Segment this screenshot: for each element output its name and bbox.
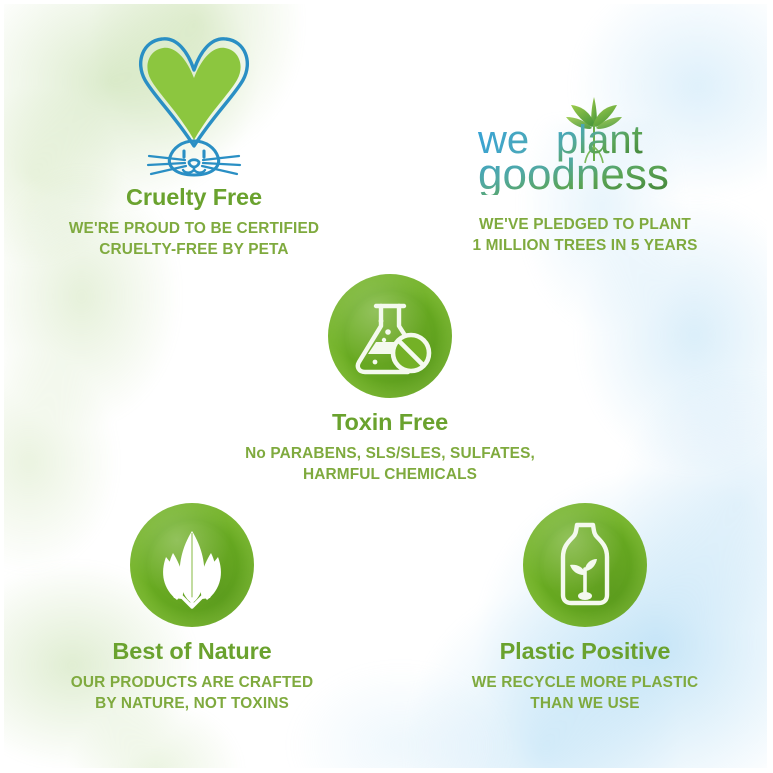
badge-description: No PARABENS, SLS/SLES, SULFATES, HARMFUL… (215, 444, 565, 485)
frame-edge-top (0, 0, 773, 4)
badge-best-of-nature: Best of Nature OUR PRODUCTS ARE CRAFTED … (32, 503, 352, 715)
badge-description-line: OUR PRODUCTS ARE CRAFTED (32, 673, 352, 694)
flask-no-toxins-icon (328, 274, 452, 398)
badge-cruelty-free: Cruelty Free WE'RE PROUD TO BE CERTIFIED… (24, 28, 364, 261)
promo-graphic-canvas: Cruelty Free WE'RE PROUD TO BE CERTIFIED… (0, 0, 773, 773)
frame-edge-bottom (0, 768, 773, 773)
badge-toxin-free: Toxin Free No PARABENS, SLS/SLES, SULFAT… (215, 274, 565, 486)
badge-description-line: WE'RE PROUD TO BE CERTIFIED (24, 219, 364, 240)
badge-title: Toxin Free (215, 409, 565, 435)
badge-title: Cruelty Free (24, 184, 364, 210)
badge-description-line: BY NATURE, NOT TOXINS (32, 694, 352, 715)
badge-description: WE'RE PROUD TO BE CERTIFIED CRUELTY-FREE… (24, 219, 364, 260)
badge-title: Plastic Positive (425, 638, 745, 664)
badge-description-line: No PARABENS, SLS/SLES, SULFATES, (215, 444, 565, 465)
bottle-sprout-icon (523, 503, 647, 627)
badge-description-line: 1 MILLION TREES IN 5 YEARS (415, 236, 755, 257)
we-plant-goodness-logo: we plant goodness (415, 95, 755, 191)
badge-description: WE'VE PLEDGED TO PLANT 1 MILLION TREES I… (415, 215, 755, 256)
badge-description-line: HARMFUL CHEMICALS (215, 465, 565, 486)
three-leaves-icon (130, 503, 254, 627)
badge-description-line: WE RECYCLE MORE PLASTIC (425, 673, 745, 694)
badge-title: Best of Nature (32, 638, 352, 664)
badge-description: WE RECYCLE MORE PLASTIC THAN WE USE (425, 673, 745, 714)
badge-we-plant-goodness: we plant goodness WE'VE PLEDGED TO PLANT… (415, 95, 755, 256)
badge-description-line: THAN WE USE (425, 694, 745, 715)
frame-edge-right (767, 0, 773, 773)
frame-edge-left (0, 0, 4, 773)
svg-text:goodness: goodness (478, 150, 669, 195)
badge-plastic-positive: Plastic Positive WE RECYCLE MORE PLASTIC… (425, 503, 745, 715)
badge-description-line: CRUELTY-FREE BY PETA (24, 240, 364, 261)
badge-description-line: WE'VE PLEDGED TO PLANT (415, 215, 755, 236)
badge-description: OUR PRODUCTS ARE CRAFTED BY NATURE, NOT … (32, 673, 352, 714)
peta-bunny-heart-icon (24, 28, 364, 178)
